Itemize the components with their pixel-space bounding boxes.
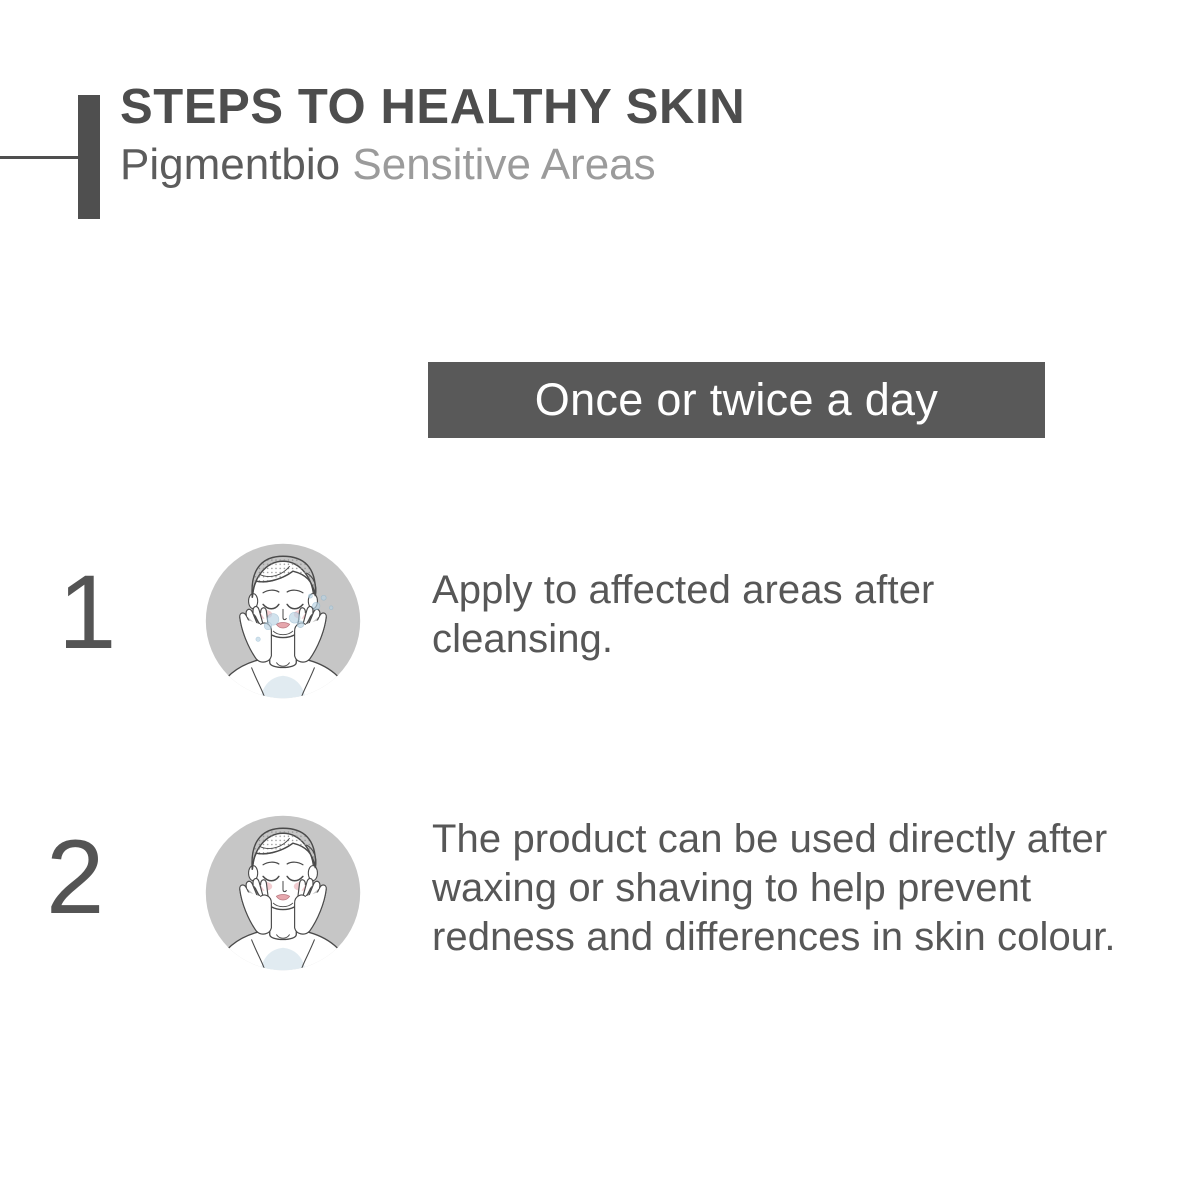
step-row-1: 1: [0, 530, 1200, 720]
subtitle-rest: Sensitive Areas: [352, 140, 655, 189]
logo-rule-icon: [0, 156, 78, 159]
infographic-page: STEPS TO HEALTHY SKIN Pigmentbio Sensiti…: [0, 0, 1200, 1200]
woman-applying-to-face-with-bubbles-icon: [200, 538, 366, 704]
step-description-2: The product can be used directly after w…: [432, 815, 1172, 961]
woman-hands-near-face-icon: [200, 810, 366, 976]
logo-bar-icon: [78, 95, 100, 219]
frequency-banner: Once or twice a day: [428, 362, 1045, 438]
step-number-2: 2: [46, 825, 104, 930]
title-block: STEPS TO HEALTHY SKIN Pigmentbio Sensiti…: [120, 82, 1160, 189]
header: STEPS TO HEALTHY SKIN Pigmentbio Sensiti…: [0, 40, 1200, 200]
frequency-banner-label: Once or twice a day: [535, 374, 938, 426]
page-subtitle: Pigmentbio Sensitive Areas: [120, 141, 1160, 189]
step-number-1: 1: [58, 560, 116, 665]
page-title: STEPS TO HEALTHY SKIN: [120, 82, 1160, 133]
subtitle-brand: Pigmentbio: [120, 140, 340, 189]
step-description-1: Apply to affected areas after cleansing.: [432, 566, 1112, 664]
step-row-2: 2: [0, 805, 1200, 1035]
